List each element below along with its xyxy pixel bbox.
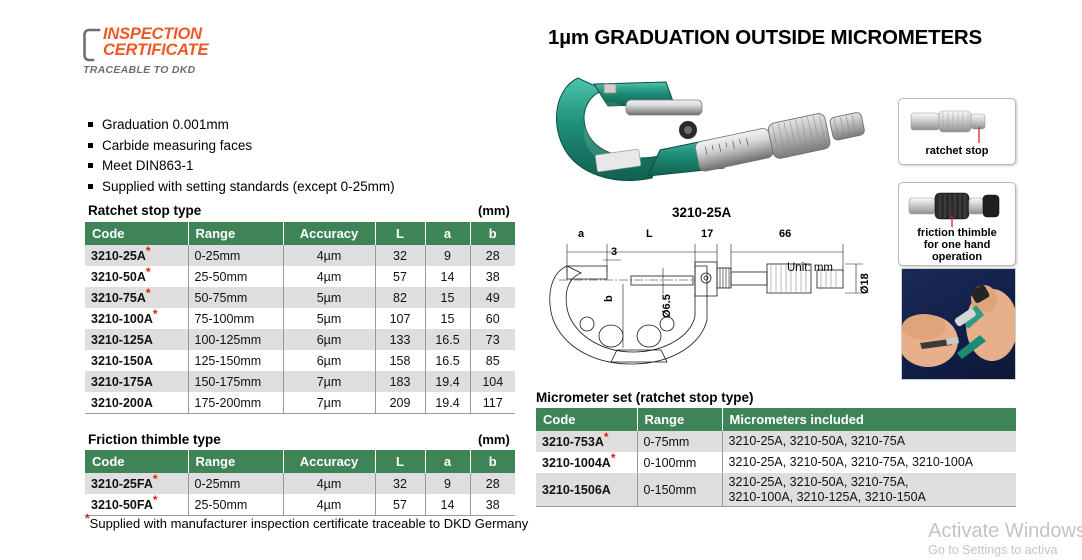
set-table-body: 3210-753A*0-75mm3210-25A, 3210-50A, 3210… xyxy=(536,431,1016,507)
cell-L: 82 xyxy=(375,287,425,308)
windows-activation-watermark: Activate Windows Go to Settings to activ… xyxy=(928,519,1082,558)
cell-range: 0-100mm xyxy=(637,452,722,473)
cell-code: 3210-125A xyxy=(85,329,188,350)
cell-accuracy: 7µm xyxy=(283,371,375,392)
ratchet-stop-photo xyxy=(899,101,1015,145)
cell-b: 28 xyxy=(470,245,515,266)
col-included: Micrometers included xyxy=(722,408,1016,431)
ratchet-stop-caption: ratchet stop xyxy=(899,145,1015,157)
asterisk-marker: * xyxy=(146,264,151,278)
cell-code: 3210-150A xyxy=(85,350,188,371)
col-range: Range xyxy=(637,408,722,431)
watermark-title: Activate Windows xyxy=(928,519,1082,543)
friction-thimble-caption: friction thimble for one hand operation xyxy=(899,227,1015,263)
table-row: 3210-125A100-125mm6µm13316.573 xyxy=(85,329,515,350)
cell-range: 125-150mm xyxy=(188,350,283,371)
list-item: Carbide measuring faces xyxy=(88,137,508,156)
cell-code: 3210-50FA* xyxy=(85,494,188,516)
asterisk-marker: * xyxy=(146,243,151,257)
table-row: 3210-753A*0-75mm3210-25A, 3210-50A, 3210… xyxy=(536,431,1016,452)
cell-b: 60 xyxy=(470,308,515,329)
ratchet-unit-label: (mm) xyxy=(478,203,510,218)
dim-3-label: 3 xyxy=(611,246,617,258)
list-item: Meet DIN863-1 xyxy=(88,157,508,176)
col-L: L xyxy=(375,222,425,245)
cell-L: 183 xyxy=(375,371,425,392)
bullet-square-icon xyxy=(88,184,93,189)
logo-line-2: CERTIFICATE xyxy=(103,43,208,58)
table-header-row: Code Range Accuracy L a b xyxy=(85,450,515,473)
col-accuracy: Accuracy xyxy=(283,450,375,473)
ratchet-stop-table: Code Range Accuracy L a b 3210-25A*0-25m… xyxy=(85,222,515,414)
col-a: a xyxy=(425,222,470,245)
table-row: 3210-150A125-150mm6µm15816.585 xyxy=(85,350,515,371)
cell-L: 32 xyxy=(375,245,425,266)
cell-accuracy: 6µm xyxy=(283,329,375,350)
bullet-square-icon xyxy=(88,143,93,148)
footnote-text: Supplied with manufacturer inspection ce… xyxy=(90,516,529,531)
cell-accuracy: 4µm xyxy=(283,473,375,494)
cell-a: 9 xyxy=(425,245,470,266)
hand-operation-photo xyxy=(901,268,1016,380)
cell-accuracy: 4µm xyxy=(283,266,375,287)
drawing-unit-label: Unit: mm xyxy=(787,262,833,274)
cell-range: 150-175mm xyxy=(188,371,283,392)
cell-b: 104 xyxy=(470,371,515,392)
dim-L-label: L xyxy=(646,228,653,240)
table-row: 3210-25A*0-25mm4µm32928 xyxy=(85,245,515,266)
cell-range: 0-75mm xyxy=(637,431,722,452)
cell-a: 19.4 xyxy=(425,371,470,392)
friction-thimble-table: Code Range Accuracy L a b 3210-25FA*0-25… xyxy=(85,450,515,516)
col-code: Code xyxy=(536,408,637,431)
page-title: 1µm GRADUATION OUTSIDE MICROMETERS xyxy=(548,26,982,50)
col-b: b xyxy=(470,450,515,473)
technical-drawing: a L 17 66 3 b Ø6.5 Ø18 xyxy=(545,232,885,380)
table-row: 3210-25FA*0-25mm4µm32928 xyxy=(85,473,515,494)
hand-holding-micrometer-illustration xyxy=(902,269,1015,379)
feature-list: Graduation 0.001mm Carbide measuring fac… xyxy=(88,116,508,198)
cell-a: 15 xyxy=(425,287,470,308)
cell-range: 0-150mm xyxy=(637,473,722,507)
caliper-bracket-icon xyxy=(83,28,101,62)
bullet-square-icon xyxy=(88,122,93,127)
dim-a-label: a xyxy=(578,228,584,240)
feature-text: Graduation 0.001mm xyxy=(102,116,229,135)
table-row: 3210-50FA*25-50mm4µm571438 xyxy=(85,494,515,516)
friction-thimble-photo xyxy=(899,185,1015,229)
cell-a: 15 xyxy=(425,308,470,329)
cell-range: 100-125mm xyxy=(188,329,283,350)
dim-diameter-6-5-label: Ø6.5 xyxy=(661,294,673,318)
cell-code: 3210-1506A xyxy=(536,473,637,507)
set-section-heading: Micrometer set (ratchet stop type) xyxy=(536,390,754,405)
cell-accuracy: 4µm xyxy=(283,245,375,266)
cell-b: 117 xyxy=(470,392,515,414)
cell-L: 32 xyxy=(375,473,425,494)
cell-accuracy: 7µm xyxy=(283,392,375,414)
inspection-certificate-logo: INSPECTION CERTIFICATE TRACEABLE TO DKD xyxy=(83,27,303,76)
cell-code: 3210-1004A* xyxy=(536,452,637,473)
cell-L: 57 xyxy=(375,266,425,287)
cell-code: 3210-753A* xyxy=(536,431,637,452)
product-caption: 3210-25A xyxy=(672,205,731,220)
cell-L: 133 xyxy=(375,329,425,350)
ratchet-section-heading: Ratchet stop type xyxy=(88,203,201,218)
list-item: Supplied with setting standards (except … xyxy=(88,178,508,197)
bullet-square-icon xyxy=(88,163,93,168)
asterisk-marker: * xyxy=(153,492,158,506)
table-row: 3210-200A175-200mm7µm20919.4117 xyxy=(85,392,515,414)
cell-a: 19.4 xyxy=(425,392,470,414)
cell-code: 3210-75A* xyxy=(85,287,188,308)
list-item: Graduation 0.001mm xyxy=(88,116,508,135)
cell-accuracy: 4µm xyxy=(283,494,375,516)
cell-range: 0-25mm xyxy=(188,473,283,494)
watermark-subtitle: Go to Settings to activa xyxy=(928,543,1082,558)
table-row: 3210-100A*75-100mm5µm1071560 xyxy=(85,308,515,329)
friction-section-heading: Friction thimble type xyxy=(88,432,221,447)
cell-included: 3210-25A, 3210-50A, 3210-75A, 3210-100A xyxy=(722,452,1016,473)
asterisk-marker: * xyxy=(611,450,616,464)
col-accuracy: Accuracy xyxy=(283,222,375,245)
cell-code: 3210-25A* xyxy=(85,245,188,266)
callout-ratchet-stop: ratchet stop xyxy=(898,98,1016,165)
callout-friction-thimble: friction thimble for one hand operation xyxy=(898,182,1016,266)
friction-table-body: 3210-25FA*0-25mm4µm329283210-50FA*25-50m… xyxy=(85,473,515,516)
cell-a: 16.5 xyxy=(425,329,470,350)
dim-66-label: 66 xyxy=(779,228,791,240)
cell-b: 85 xyxy=(470,350,515,371)
feature-text: Meet DIN863-1 xyxy=(102,157,194,176)
cell-range: 25-50mm xyxy=(188,266,283,287)
cell-a: 14 xyxy=(425,494,470,516)
dim-17-label: 17 xyxy=(701,228,713,240)
cell-b: 49 xyxy=(470,287,515,308)
table-row: 3210-50A*25-50mm4µm571438 xyxy=(85,266,515,287)
col-range: Range xyxy=(188,450,283,473)
col-range: Range xyxy=(188,222,283,245)
col-b: b xyxy=(470,222,515,245)
table-header-row: Code Range Accuracy L a b xyxy=(85,222,515,245)
asterisk-marker: * xyxy=(604,429,609,443)
table-header-row: Code Range Micrometers included xyxy=(536,408,1016,431)
cell-code: 3210-50A* xyxy=(85,266,188,287)
cell-range: 175-200mm xyxy=(188,392,283,414)
cell-included: 3210-25A, 3210-50A, 3210-75A, 3210-100A,… xyxy=(722,473,1016,507)
table-row: 3210-1004A*0-100mm3210-25A, 3210-50A, 32… xyxy=(536,452,1016,473)
cell-L: 107 xyxy=(375,308,425,329)
cell-code: 3210-200A xyxy=(85,392,188,414)
cell-range: 75-100mm xyxy=(188,308,283,329)
cell-included: 3210-25A, 3210-50A, 3210-75A xyxy=(722,431,1016,452)
cell-L: 57 xyxy=(375,494,425,516)
feature-text: Supplied with setting standards (except … xyxy=(102,178,395,197)
dim-diameter-18-label: Ø18 xyxy=(859,273,871,294)
product-photo-main xyxy=(548,60,878,205)
cell-range: 25-50mm xyxy=(188,494,283,516)
cell-L: 209 xyxy=(375,392,425,414)
dimension-drawing xyxy=(545,232,885,380)
cell-code: 3210-25FA* xyxy=(85,473,188,494)
cell-a: 9 xyxy=(425,473,470,494)
cell-code: 3210-100A* xyxy=(85,308,188,329)
cell-accuracy: 6µm xyxy=(283,350,375,371)
table-row: 3210-75A*50-75mm5µm821549 xyxy=(85,287,515,308)
cell-code: 3210-175A xyxy=(85,371,188,392)
table-row: 3210-175A150-175mm7µm18319.4104 xyxy=(85,371,515,392)
cell-b: 73 xyxy=(470,329,515,350)
cell-b: 38 xyxy=(470,494,515,516)
asterisk-marker: * xyxy=(153,306,158,320)
micrometer-illustration xyxy=(548,60,878,205)
logo-line-1: INSPECTION xyxy=(103,27,208,42)
col-code: Code xyxy=(85,450,188,473)
catalog-page: INSPECTION CERTIFICATE TRACEABLE TO DKD … xyxy=(0,0,1082,560)
footnote: *Supplied with manufacturer inspection c… xyxy=(85,516,528,531)
cell-range: 0-25mm xyxy=(188,245,283,266)
feature-text: Carbide measuring faces xyxy=(102,137,252,156)
cell-b: 38 xyxy=(470,266,515,287)
cell-a: 16.5 xyxy=(425,350,470,371)
table-row: 3210-1506A0-150mm3210-25A, 3210-50A, 321… xyxy=(536,473,1016,507)
cell-L: 158 xyxy=(375,350,425,371)
asterisk-marker: * xyxy=(153,471,158,485)
cell-a: 14 xyxy=(425,266,470,287)
asterisk-marker: * xyxy=(146,285,151,299)
col-code: Code xyxy=(85,222,188,245)
cell-range: 50-75mm xyxy=(188,287,283,308)
micrometer-set-table: Code Range Micrometers included 3210-753… xyxy=(536,408,1016,507)
ratchet-table-body: 3210-25A*0-25mm4µm329283210-50A*25-50mm4… xyxy=(85,245,515,414)
col-L: L xyxy=(375,450,425,473)
cell-accuracy: 5µm xyxy=(283,308,375,329)
friction-unit-label: (mm) xyxy=(478,432,510,447)
logo-subtitle: TRACEABLE TO DKD xyxy=(83,64,303,76)
col-a: a xyxy=(425,450,470,473)
dim-b-label: b xyxy=(603,295,615,302)
cell-accuracy: 5µm xyxy=(283,287,375,308)
cell-b: 28 xyxy=(470,473,515,494)
